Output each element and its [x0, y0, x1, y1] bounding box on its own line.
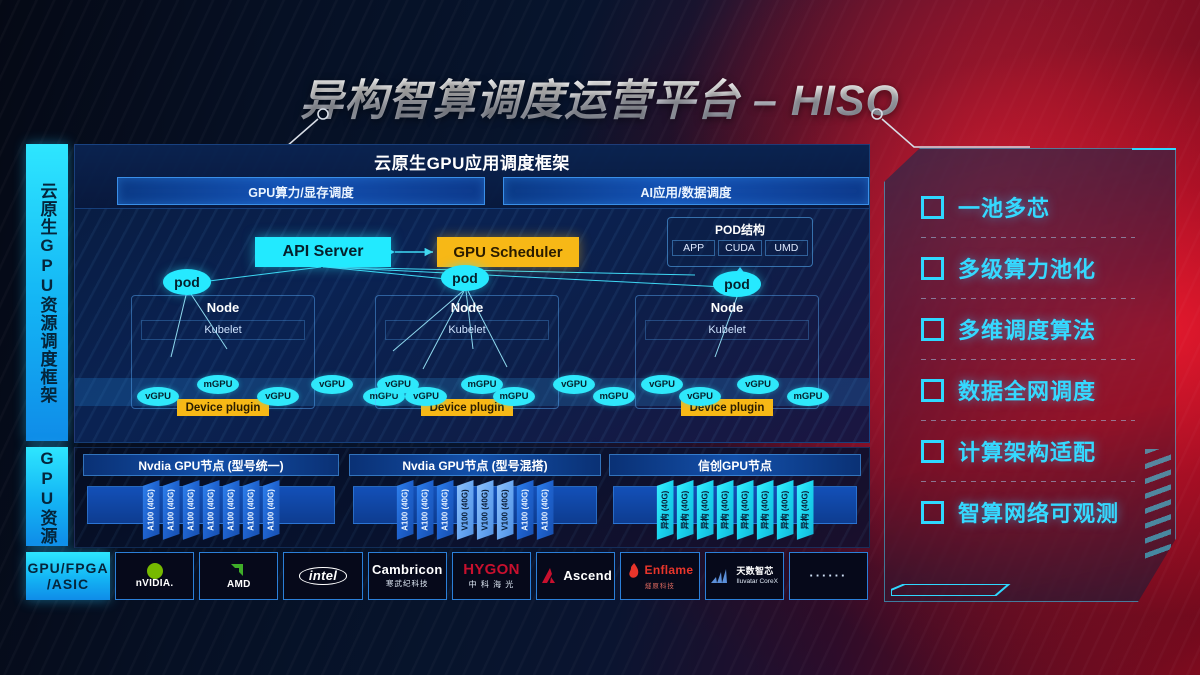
- vendor-enflame[interactable]: Enflame 燧原科技: [620, 552, 699, 600]
- gpu-card[interactable]: 异构 (40G): [717, 480, 734, 540]
- enflame-icon: Enflame: [627, 563, 694, 579]
- gpu-card-label: A100 (40G): [247, 489, 256, 531]
- gpu-chip[interactable]: vGPU: [137, 387, 179, 406]
- gpu-chip[interactable]: vGPU: [405, 387, 447, 406]
- gpu-chip[interactable]: vGPU: [257, 387, 299, 406]
- gpu-card-list-1: A100 (40G)A100 (40G)A100 (40G)A100 (40G)…: [83, 478, 339, 542]
- feature-item-6[interactable]: 智算网络可观测: [885, 482, 1175, 542]
- gpu-card[interactable]: A100 (40G): [263, 480, 280, 540]
- feature-label: 计算架构适配: [958, 435, 1096, 467]
- vendor-name: Cambricon: [372, 563, 443, 577]
- gpu-card-label: 异构 (40G): [800, 491, 811, 530]
- vendor-ascend[interactable]: Ascend: [536, 552, 615, 600]
- gpu-chip[interactable]: vGPU: [679, 387, 721, 406]
- checkbox-icon: [921, 379, 944, 402]
- amd-icon: [229, 562, 249, 580]
- gpu-card-list-3: 异构 (40G)异构 (40G)异构 (40G)异构 (40G)异构 (40G)…: [609, 478, 861, 542]
- gpu-card-label: 异构 (40G): [700, 491, 711, 530]
- gpu-chip[interactable]: mGPU: [593, 387, 635, 406]
- framework-body: API Server GPU Scheduler POD结构 APP CUDA …: [75, 209, 869, 442]
- gpu-chip[interactable]: vGPU: [737, 375, 779, 394]
- gpu-card[interactable]: A100 (40G): [437, 480, 454, 540]
- slide-title-bar: 异构智算调度运营平台 – HISO: [0, 62, 1200, 132]
- device-plugin-label[interactable]: Device plugin: [177, 399, 269, 416]
- gpu-card[interactable]: A100 (40G): [417, 480, 434, 540]
- gpu-card-label: 异构 (40G): [780, 491, 791, 530]
- feature-label: 一池多芯: [958, 191, 1050, 223]
- pod-cell-umd: UMD: [765, 240, 808, 256]
- gpu-card-label: A100 (40G): [187, 489, 196, 531]
- gpu-card[interactable]: 异构 (40G): [737, 480, 754, 540]
- gpu-card[interactable]: 异构 (40G): [797, 480, 814, 540]
- feature-list: 一池多芯 多级算力池化 多维调度算法 数据全网调度 计算架构适配: [885, 149, 1175, 601]
- vendor-cambricon[interactable]: Cambricon 寒武纪科技: [368, 552, 447, 600]
- gpu-card[interactable]: 异构 (40G): [757, 480, 774, 540]
- ascend-icon: Ascend: [539, 567, 612, 585]
- gpu-card[interactable]: A100 (40G): [517, 480, 534, 540]
- gpu-card[interactable]: A100 (40G): [397, 480, 414, 540]
- iluvatar-icon: 天数智芯 Iluvatar CoreX: [710, 567, 778, 584]
- gpu-card-label: A100 (40G): [207, 489, 216, 531]
- node-title: Node: [636, 300, 818, 315]
- checkbox-icon: [921, 501, 944, 524]
- gpu-card-label: 异构 (40G): [680, 491, 691, 530]
- gpu-card-label: 异构 (40G): [740, 491, 751, 530]
- gpu-chip[interactable]: vGPU: [641, 375, 683, 394]
- subbar-ai-data[interactable]: AI应用/数据调度: [503, 177, 869, 205]
- gpu-card-label: 异构 (40G): [760, 491, 771, 530]
- gpu-card-label: 异构 (40G): [720, 491, 731, 530]
- gpu-scheduler-box[interactable]: GPU Scheduler: [437, 237, 579, 267]
- gpu-card[interactable]: A100 (40G): [243, 480, 260, 540]
- panel-corner-bottom-icon: [891, 583, 1011, 595]
- kubelet-box: Kubelet: [645, 320, 809, 340]
- vendor-name: nVIDIA.: [136, 579, 174, 590]
- checkbox-icon: [921, 440, 944, 463]
- pod-cell-cuda: CUDA: [718, 240, 761, 256]
- gpu-chip[interactable]: vGPU: [311, 375, 353, 394]
- vendor-subname: 中 科 海 光: [469, 579, 515, 590]
- vendor-name: Ascend: [563, 569, 612, 583]
- gpu-chip[interactable]: mGPU: [493, 387, 535, 406]
- gpu-card[interactable]: A100 (40G): [143, 480, 160, 540]
- cloud-native-framework-panel: 云原生GPU应用调度框架 GPU算力/显存调度 AI应用/数据调度: [74, 144, 870, 443]
- gpu-card-label: A100 (40G): [441, 489, 450, 531]
- gpu-node-group-1: Nvdia GPU节点 (型号统一) A100 (40G)A100 (40G)A…: [83, 454, 339, 542]
- gpu-card[interactable]: 异构 (40G): [697, 480, 714, 540]
- gpu-card-label: V100 (40G): [481, 489, 490, 530]
- gpu-card[interactable]: 异构 (40G): [777, 480, 794, 540]
- vendor-hygon[interactable]: HYGON 中 科 海 光: [452, 552, 531, 600]
- vendor-subname: 寒武纪科技: [386, 578, 429, 589]
- vendor-logo-bar: nVIDIA. AMD intel Cambricon 寒武纪科技 HYGON …: [26, 552, 868, 600]
- gpu-node-group-3: 信创GPU节点 异构 (40G)异构 (40G)异构 (40G)异构 (40G)…: [609, 454, 861, 542]
- pod-node-1[interactable]: pod: [163, 269, 211, 295]
- gpu-card[interactable]: A100 (40G): [537, 480, 554, 540]
- board-sidebar-labels: 云原生GPU资源调度框架 GPU资源 GPU/FPGA /ASIC: [26, 144, 68, 600]
- gpu-chip[interactable]: mGPU: [197, 375, 239, 394]
- architecture-board: 云原生GPU资源调度框架 GPU资源 GPU/FPGA /ASIC 云原生GPU…: [26, 144, 868, 600]
- gpu-card-label: V100 (40G): [501, 489, 510, 530]
- gpu-card-list-2: A100 (40G)A100 (40G)A100 (40G)V100 (40G)…: [349, 478, 601, 542]
- checkbox-icon: [921, 196, 944, 219]
- gpu-node-group-title: Nvdia GPU节点 (型号统一): [83, 454, 339, 476]
- vendor-name: AMD: [227, 580, 251, 591]
- gpu-card[interactable]: A100 (40G): [183, 480, 200, 540]
- sidebar-label-gpu-resource: GPU资源: [26, 447, 68, 546]
- feature-item-5[interactable]: 计算架构适配: [885, 421, 1175, 481]
- slide-canvas: 异构智算调度运营平台 – HISO 云原生GPU资源调度框架 GPU资源 GPU…: [0, 0, 1200, 675]
- subbar-gpu-compute[interactable]: GPU算力/显存调度: [117, 177, 485, 205]
- gpu-chip[interactable]: vGPU: [553, 375, 595, 394]
- gpu-card[interactable]: V100 (40G): [497, 480, 514, 540]
- gpu-card-label: A100 (40G): [421, 489, 430, 531]
- api-server-box[interactable]: API Server: [255, 237, 391, 267]
- nvidia-icon: [144, 563, 166, 579]
- sidebar-label-framework: 云原生GPU资源调度框架: [26, 144, 68, 441]
- checkbox-icon: [921, 318, 944, 341]
- vendor-subname: Iluvatar CoreX: [736, 578, 778, 585]
- vendor-name: 天数智芯: [736, 567, 773, 576]
- pod-structure-title: POD结构: [668, 221, 812, 238]
- feature-item-4[interactable]: 数据全网调度: [885, 360, 1175, 420]
- feature-item-1[interactable]: 一池多芯: [885, 177, 1175, 237]
- vendor-more[interactable]: ······: [789, 552, 868, 600]
- gpu-card-label: A100 (40G): [521, 489, 530, 531]
- checkbox-icon: [921, 257, 944, 280]
- feature-label: 多级算力池化: [958, 252, 1096, 284]
- pod-cell-app: APP: [672, 240, 715, 256]
- vendor-intel[interactable]: intel: [283, 552, 362, 600]
- page-title: 异构智算调度运营平台 – HISO: [300, 66, 900, 128]
- gpu-card-label: A100 (40G): [541, 489, 550, 531]
- vendor-nvidia[interactable]: nVIDIA.: [115, 552, 194, 600]
- pod-structure-cells: APP CUDA UMD: [668, 238, 812, 256]
- gpu-card[interactable]: V100 (40G): [477, 480, 494, 540]
- kubelet-box: Kubelet: [141, 320, 305, 340]
- gpu-node-group-title: Nvdia GPU节点 (型号混搭): [349, 454, 601, 476]
- vendor-iluvatar[interactable]: 天数智芯 Iluvatar CoreX: [705, 552, 784, 600]
- node-title: Node: [376, 300, 558, 315]
- gpu-chip[interactable]: mGPU: [787, 387, 829, 406]
- feature-label: 多维调度算法: [958, 313, 1096, 345]
- gpu-card-label: V100 (40G): [461, 489, 470, 530]
- gpu-resource-panel: Nvdia GPU节点 (型号统一) A100 (40G)A100 (40G)A…: [74, 447, 870, 548]
- gpu-card[interactable]: 异构 (40G): [657, 480, 674, 540]
- node-title: Node: [132, 300, 314, 315]
- vendor-name: intel: [309, 569, 337, 583]
- pod-node-2[interactable]: pod: [441, 265, 489, 291]
- vendor-name: HYGON: [463, 562, 520, 578]
- gpu-node-group-2: Nvdia GPU节点 (型号混搭) A100 (40G)A100 (40G)A…: [349, 454, 601, 542]
- framework-header: 云原生GPU应用调度框架 GPU算力/显存调度 AI应用/数据调度: [75, 145, 869, 209]
- pod-node-3[interactable]: pod: [713, 271, 761, 297]
- gpu-card-label: A100 (40G): [267, 489, 276, 531]
- gpu-card-label: 异构 (40G): [660, 491, 671, 530]
- gpu-card-label: A100 (40G): [167, 489, 176, 531]
- vendor-name: ······: [809, 569, 847, 583]
- gpu-card[interactable]: A100 (40G): [223, 480, 240, 540]
- framework-title: 云原生GPU应用调度框架: [75, 149, 869, 174]
- feature-label: 智算网络可观测: [958, 496, 1119, 528]
- vendor-subname: 燧原科技: [645, 580, 675, 590]
- gpu-node-group-title: 信创GPU节点: [609, 454, 861, 476]
- kubelet-box: Kubelet: [385, 320, 549, 340]
- gpu-card-label: A100 (40G): [227, 489, 236, 531]
- gpu-card-label: A100 (40G): [147, 489, 156, 531]
- gpu-card-label: A100 (40G): [401, 489, 410, 531]
- feature-item-3[interactable]: 多维调度算法: [885, 299, 1175, 359]
- pod-structure-box: POD结构 APP CUDA UMD: [667, 217, 813, 267]
- gpu-card[interactable]: 异构 (40G): [677, 480, 694, 540]
- vendor-amd[interactable]: AMD: [199, 552, 278, 600]
- gpu-card[interactable]: V100 (40G): [457, 480, 474, 540]
- feature-label: 数据全网调度: [958, 374, 1096, 406]
- feature-item-2[interactable]: 多级算力池化: [885, 238, 1175, 298]
- vendor-name: Enflame: [645, 564, 694, 577]
- gpu-card[interactable]: A100 (40G): [203, 480, 220, 540]
- gpu-card[interactable]: A100 (40G): [163, 480, 180, 540]
- feature-highlights-panel: 一池多芯 多级算力池化 多维调度算法 数据全网调度 计算架构适配: [884, 148, 1176, 602]
